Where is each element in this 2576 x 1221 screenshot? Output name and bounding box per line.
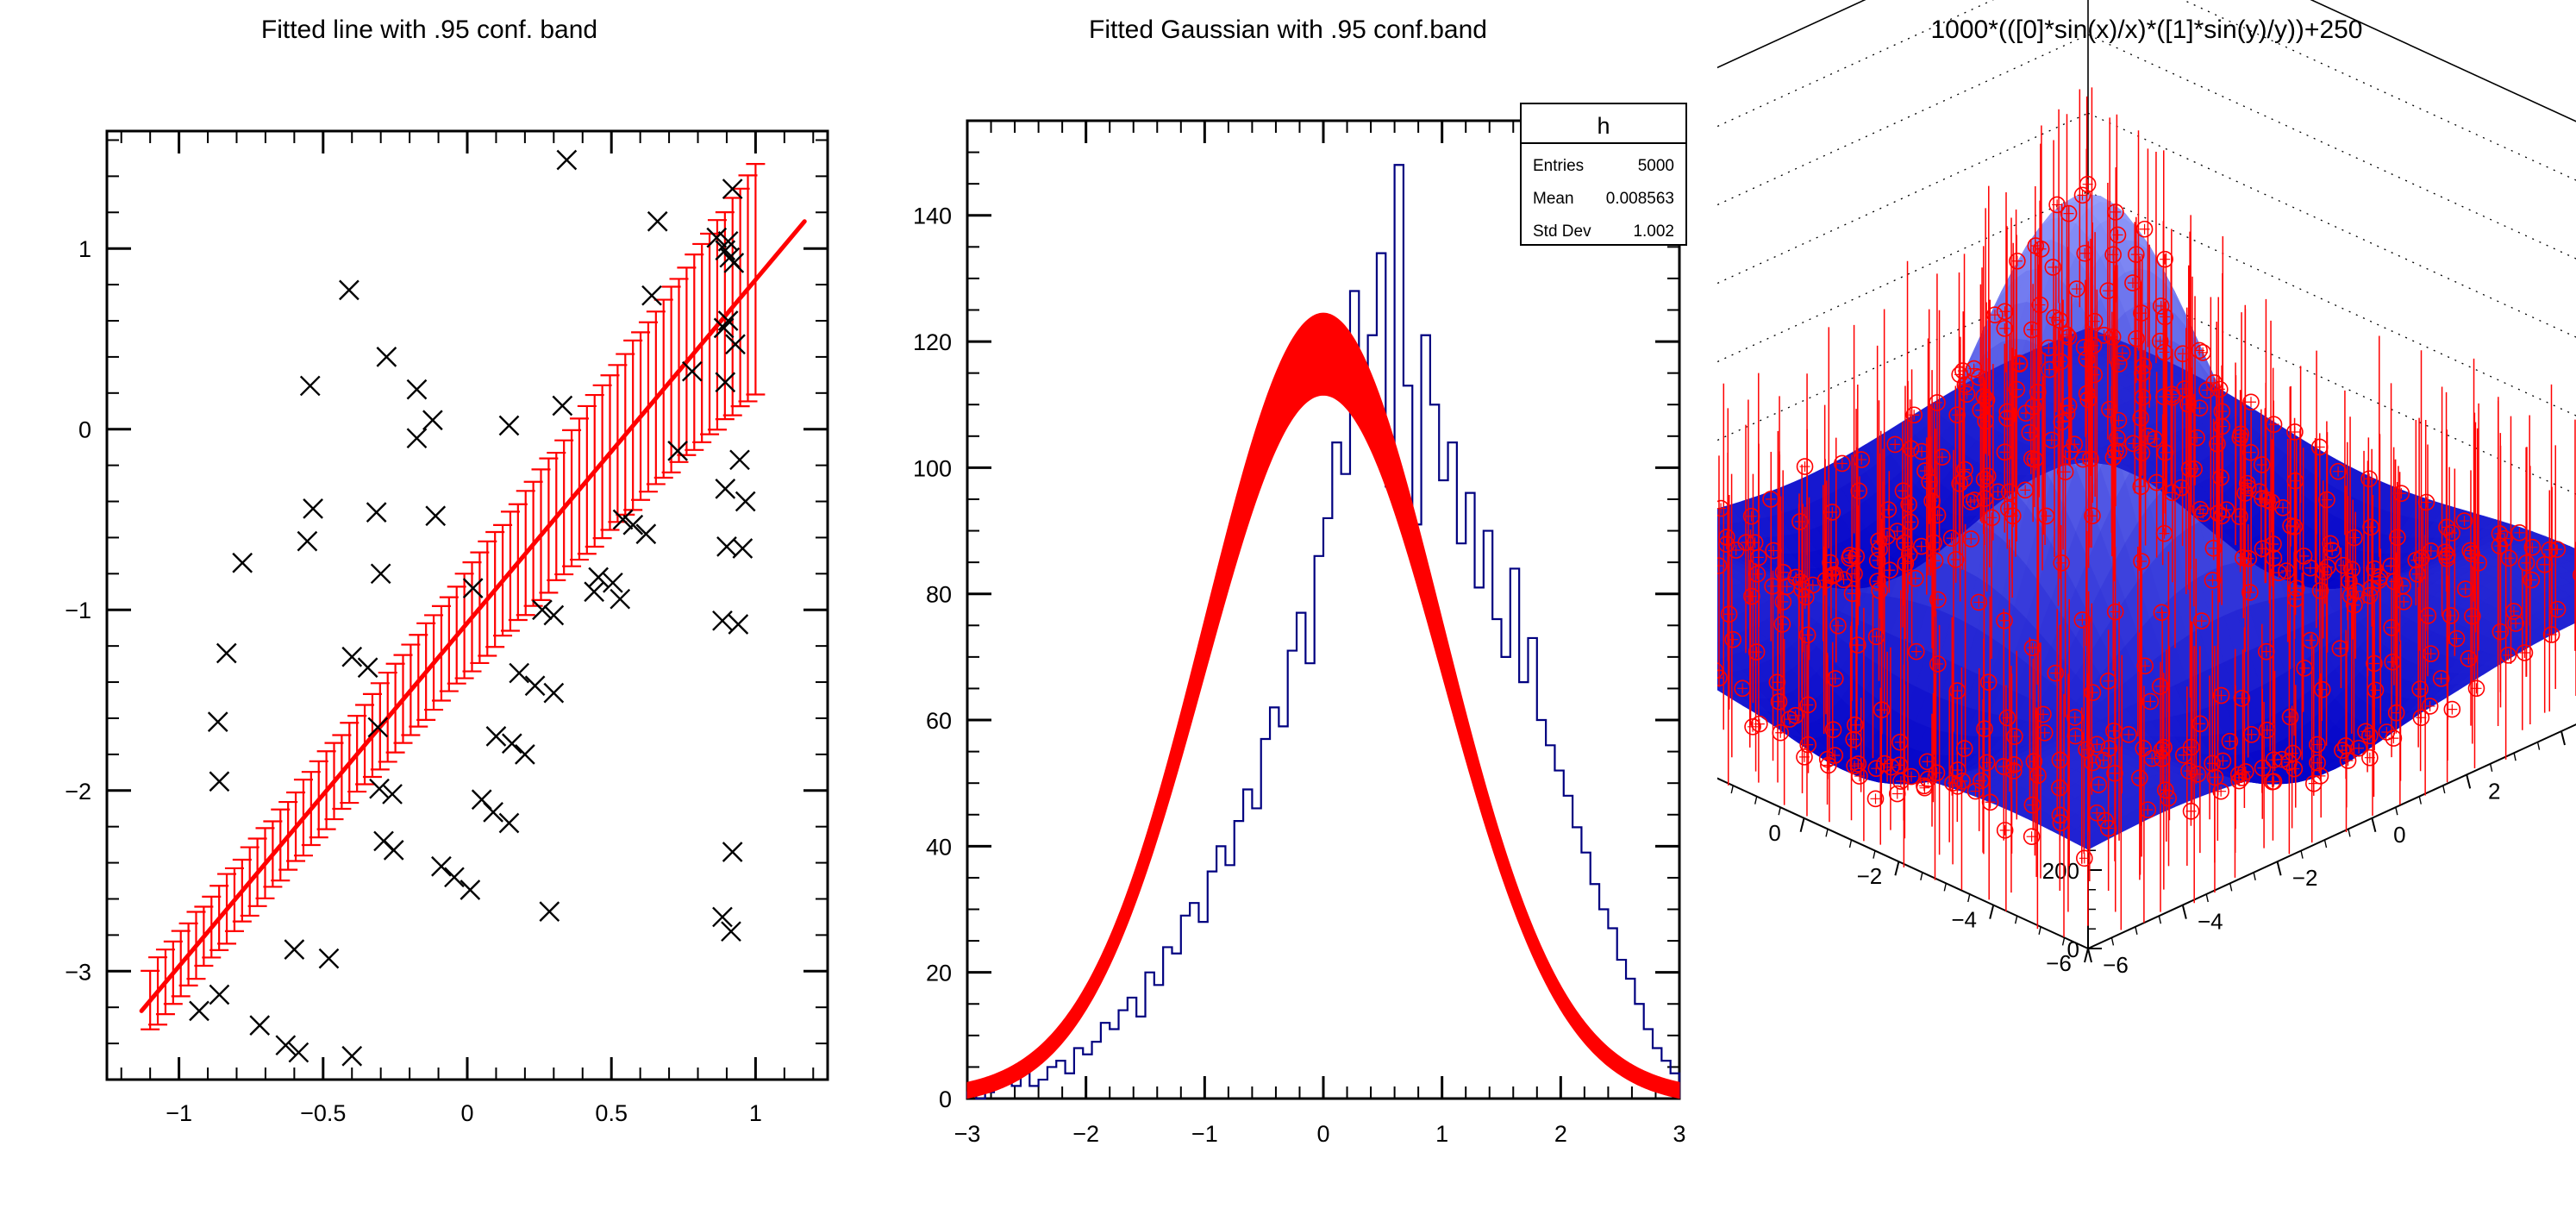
- tick-label: 0: [78, 417, 91, 443]
- stats-row-label: Mean: [1533, 190, 1574, 208]
- grid-line: [2088, 0, 2576, 217]
- x-minor-tick: [2514, 753, 2516, 761]
- marker-x: [623, 516, 642, 535]
- marker-x: [460, 880, 479, 899]
- stats-row-label: Entries: [1533, 157, 1584, 175]
- marker-cross: [2160, 254, 2170, 265]
- x-minor-tick: [2348, 829, 2350, 836]
- marker-cross: [2447, 704, 2457, 715]
- marker-x: [716, 479, 735, 498]
- marker-x: [683, 362, 702, 381]
- stats-row-value: 5000: [1638, 157, 1674, 175]
- stats-box-title: h: [1597, 113, 1610, 139]
- x-minor-tick: [2159, 916, 2160, 924]
- y-minor-tick: [1897, 861, 1898, 869]
- marker-x: [301, 376, 320, 395]
- marker-x: [372, 564, 391, 583]
- x-minor-tick: [2419, 797, 2421, 805]
- tick-label: −1: [166, 1100, 192, 1126]
- tick-label: −2: [1072, 1121, 1099, 1147]
- marker-x: [589, 568, 608, 587]
- marker-x: [553, 396, 572, 415]
- tick-label: −0.5: [300, 1100, 346, 1126]
- marker-x: [648, 212, 667, 231]
- marker-x: [499, 416, 518, 435]
- tick-label: 100: [913, 455, 952, 481]
- tick-label: −2: [2292, 865, 2318, 891]
- x-minor-tick: [2301, 851, 2303, 859]
- y-minor-tick: [1826, 829, 1828, 836]
- marker-x: [713, 611, 732, 630]
- marker-x: [642, 286, 661, 305]
- tick-label: 40: [926, 834, 952, 860]
- marker-x: [342, 1047, 361, 1066]
- marker-cross: [1800, 461, 1810, 472]
- axis-edge: [2088, 0, 2576, 158]
- marker-x: [499, 813, 518, 832]
- marker-x: [407, 429, 426, 448]
- marker-cross: [2388, 733, 2398, 743]
- tick-label: 0: [2393, 822, 2405, 848]
- marker-x: [526, 676, 545, 695]
- marker-x: [516, 745, 535, 764]
- pad-surface-3d[interactable]: 1000*(([0]*sin(x)/x)*([1]*sin(y)/y))+250…: [1717, 0, 2576, 1221]
- marker-x: [503, 734, 522, 753]
- y-minor-tick: [1944, 883, 1946, 891]
- tick-label: 1: [78, 236, 91, 262]
- marker-x: [284, 940, 303, 959]
- x-minor-tick: [2443, 786, 2445, 793]
- tick-label: 60: [926, 708, 952, 734]
- y-minor-tick: [1850, 840, 1852, 848]
- marker-x: [250, 1016, 269, 1035]
- marker-x: [726, 335, 745, 354]
- marker-x: [510, 664, 528, 683]
- tick-label: −2: [1857, 863, 1883, 889]
- marker-x: [603, 573, 622, 592]
- tick-label: 120: [913, 329, 952, 355]
- marker-x: [297, 532, 316, 551]
- tick-label: 140: [913, 203, 952, 229]
- marker-x: [368, 717, 387, 736]
- tick-label: 1: [1435, 1121, 1448, 1147]
- marker-x: [342, 648, 361, 667]
- x-minor-tick: [2325, 840, 2327, 848]
- marker-x: [723, 842, 742, 861]
- marker-x: [209, 986, 228, 1005]
- y-minor-tick: [1873, 851, 1875, 859]
- marker-x: [736, 492, 755, 511]
- marker-x: [423, 410, 442, 429]
- y-minor-tick: [1968, 894, 1970, 902]
- marker-x: [484, 803, 503, 822]
- y-minor-tick: [1779, 807, 1780, 815]
- marker-cross: [2000, 825, 2010, 836]
- marker-cross: [1871, 793, 1881, 804]
- frame-group: −3−2−10123020406080100120140: [913, 121, 1686, 1147]
- x-minor-tick: [2111, 937, 2113, 945]
- stats-row-value: 1.002: [1633, 222, 1674, 241]
- tick-label: −1: [65, 598, 91, 623]
- marker-x: [728, 615, 747, 634]
- tick-label: −6: [2046, 950, 2072, 976]
- marker-x: [319, 949, 338, 968]
- marker-x: [614, 510, 633, 529]
- y-minor-tick: [1731, 786, 1733, 793]
- tick-label: 0: [1768, 820, 1780, 846]
- tick-label: −1: [1191, 1121, 1218, 1147]
- x-minor-tick: [2396, 807, 2398, 815]
- plot-frame: [967, 121, 1679, 1099]
- marker-cross: [1892, 789, 1903, 799]
- x-minor-tick: [2538, 742, 2540, 750]
- y-minor-tick: [2016, 916, 2017, 924]
- x-minor-tick: [2230, 883, 2232, 891]
- y-minor-tick: [1991, 905, 1993, 913]
- marker-x: [540, 902, 559, 921]
- grid-line: [2088, 34, 2576, 295]
- marker-x: [209, 712, 228, 731]
- marker-x: [340, 280, 359, 299]
- tick-label: 3: [1673, 1121, 1685, 1147]
- x-minor-tick: [2467, 774, 2468, 782]
- marker-x: [610, 590, 629, 609]
- pad-2-plot[interactable]: −3−2−10123020406080100120140hEntries5000…: [859, 0, 1717, 1221]
- marker-x: [733, 539, 752, 558]
- y-minor-tick: [1803, 818, 1804, 826]
- tick-label: 0: [1316, 1121, 1329, 1147]
- stats-box[interactable]: hEntries5000Mean0.008563Std Dev1.002: [1521, 103, 1686, 245]
- marker-x: [303, 499, 322, 518]
- tick-label: 0: [460, 1100, 473, 1126]
- marker-x: [544, 684, 563, 703]
- x-minor-tick: [2561, 731, 2563, 739]
- x-minor-tick: [2183, 905, 2185, 913]
- marker-x: [209, 772, 228, 791]
- marker-x: [426, 506, 445, 525]
- plot-frame: [107, 131, 828, 1080]
- marker-x: [585, 582, 603, 601]
- y-minor-tick: [1755, 797, 1757, 805]
- tick-label: 0: [939, 1086, 952, 1112]
- tick-label: −4: [1951, 907, 1977, 933]
- y-minor-tick: [2063, 937, 2065, 945]
- x-minor-tick: [2372, 818, 2373, 826]
- tick-label: 80: [926, 582, 952, 608]
- tick-label: 2: [2488, 778, 2500, 804]
- marker-x: [385, 841, 403, 860]
- x-minor-tick: [2491, 764, 2492, 772]
- pad-3-plot[interactable]: 0200400600800100012006420−2−4−6−6−4−2024…: [1717, 0, 2576, 1221]
- marker-x: [217, 644, 236, 663]
- marker-x: [233, 554, 252, 573]
- marker-x: [407, 380, 426, 399]
- marker-x: [730, 450, 749, 469]
- tick-label: 1: [749, 1100, 762, 1126]
- y-minor-tick: [1921, 873, 1923, 880]
- tick-label: −3: [65, 959, 91, 985]
- x-minor-tick: [2278, 861, 2279, 869]
- tick-label: 2: [1554, 1121, 1567, 1147]
- marker-x: [432, 857, 451, 876]
- marker-x: [190, 1001, 209, 1020]
- histogram-outline: [967, 165, 1679, 1099]
- y-minor-tick: [2039, 927, 2041, 935]
- tick-label: −4: [2198, 909, 2223, 935]
- marker-x: [359, 658, 378, 677]
- tick-label: −3: [954, 1121, 981, 1147]
- tick-label: 20: [926, 961, 952, 986]
- tick-label: −2: [65, 779, 91, 805]
- confidence-band: [967, 313, 1679, 1098]
- tick-label: 0.5: [595, 1100, 628, 1126]
- marker-x: [367, 503, 386, 522]
- pad-1-plot[interactable]: −1−0.500.5110−1−2−3: [0, 0, 859, 1221]
- marker-x: [636, 524, 655, 543]
- tick-label: −6: [2103, 952, 2129, 978]
- marker-x: [445, 867, 464, 886]
- marker-x: [557, 151, 576, 170]
- x-minor-tick: [2206, 894, 2208, 902]
- axis-edge: [1717, 0, 2088, 158]
- marker-x: [377, 348, 396, 366]
- pad-fitted-gaussian[interactable]: Fitted Gaussian with .95 conf.band −3−2−…: [859, 0, 1717, 1221]
- root-canvas: Fitted line with .95 conf. band −1−0.500…: [0, 0, 2576, 1221]
- marker-x: [486, 727, 505, 746]
- tick-label: 200: [2042, 858, 2079, 884]
- stats-row-label: Std Dev: [1533, 222, 1591, 241]
- x-minor-tick: [2254, 873, 2255, 880]
- x-minor-tick: [2088, 949, 2090, 956]
- pad-fitted-line[interactable]: Fitted line with .95 conf. band −1−0.500…: [0, 0, 859, 1221]
- x-minor-tick: [2135, 927, 2137, 935]
- grid-line: [1717, 0, 2088, 217]
- stats-row-value: 0.008563: [1606, 190, 1674, 208]
